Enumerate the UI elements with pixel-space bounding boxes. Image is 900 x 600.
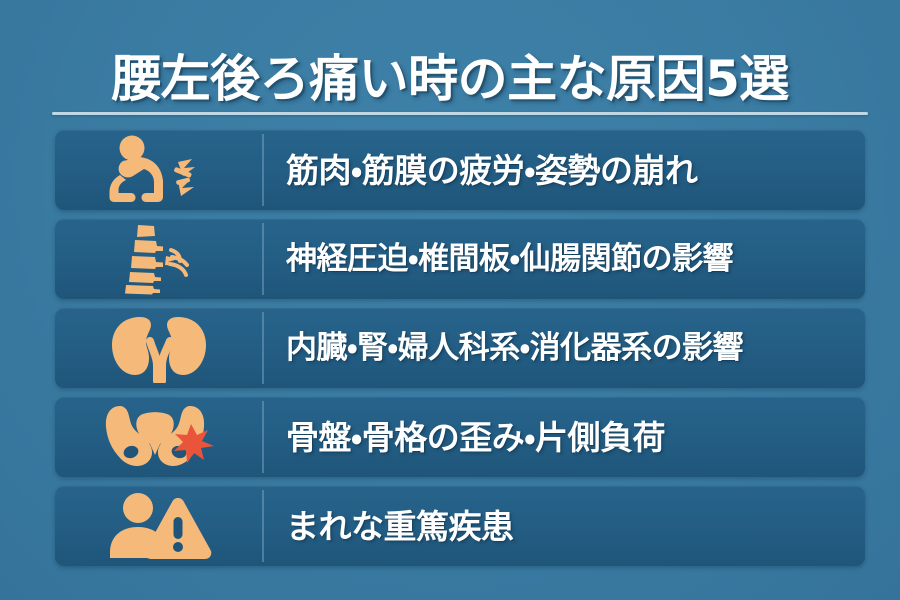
list-item-internal-organs[interactable]: 内臓・腎・婦人科系・消化器系の影響 [55,308,865,388]
text-cell: まれな重篤疾患 [264,486,865,566]
person-warning-triangle-icon [100,492,218,560]
icon-cell [55,486,262,566]
list-item-nerve-compression[interactable]: 神経圧迫・椎間板・仙腸関節の影響 [55,219,865,299]
list-item-serious-disease[interactable]: まれな重篤疾患 [55,486,865,566]
title-area: 腰左後ろ痛い時の主な原因5選 [0,18,900,139]
cause-list: 筋肉・筋膜の疲労・姿勢の崩れ [55,130,865,566]
icon-cell [55,130,262,210]
list-item-pelvis-skeleton[interactable]: 骨盤・骨格の歪み・片側負荷 [55,397,865,477]
icon-cell [55,308,262,388]
pelvis-bone-pain-icon [98,402,220,472]
list-item-label: 筋肉・筋膜の疲労・姿勢の崩れ [286,154,697,187]
list-item-label: まれな重篤疾患 [286,510,514,543]
text-cell: 内臓・腎・婦人科系・消化器系の影響 [264,308,865,388]
list-item-muscle-fascia[interactable]: 筋肉・筋膜の疲労・姿勢の崩れ [55,130,865,210]
text-cell: 骨盤・骨格の歪み・片側負荷 [264,397,865,477]
text-cell: 神経圧迫・椎間板・仙腸関節の影響 [264,219,865,299]
person-bending-back-pain-icon [100,135,218,205]
poster-root: 腰左後ろ痛い時の主な原因5選 [0,0,900,600]
kidneys-icon [100,313,218,383]
list-item-label: 神経圧迫・椎間板・仙腸関節の影響 [286,244,733,275]
text-cell: 筋肉・筋膜の疲労・姿勢の崩れ [264,130,865,210]
list-item-label: 骨盤・骨格の歪み・片側負荷 [286,421,665,454]
icon-cell [55,397,262,477]
title-underline-rule [52,112,868,115]
spine-vertebrae-icon [104,223,214,295]
list-item-label: 内臓・腎・婦人科系・消化器系の影響 [286,333,743,364]
page-title: 腰左後ろ痛い時の主な原因5選 [111,52,789,106]
icon-cell [55,219,262,299]
